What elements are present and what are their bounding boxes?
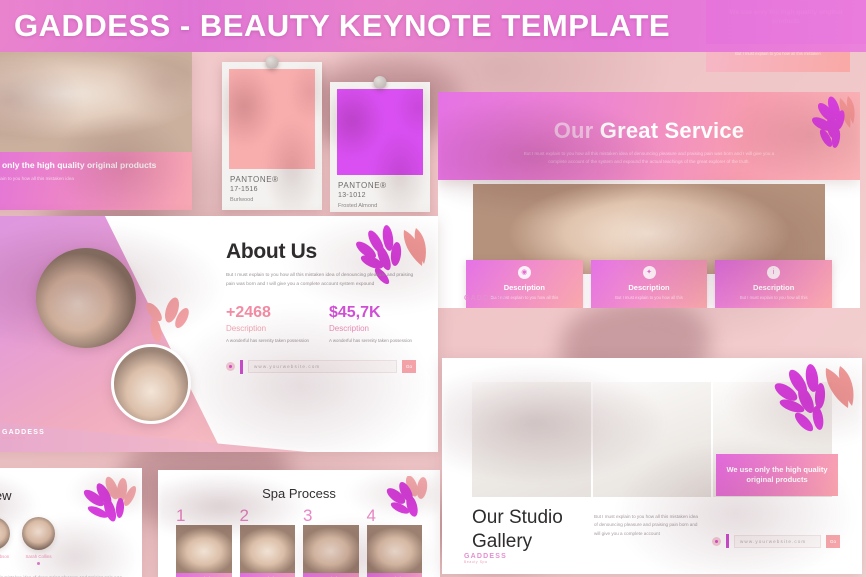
gallery-badge-text: We use only the high quality original pr…: [724, 465, 830, 486]
gallery-logo-sub: Beauty Spa: [464, 560, 507, 564]
about-url-bar[interactable]: www.yourwebsite.com Go: [226, 360, 416, 374]
pin-icon: [266, 56, 279, 69]
gallery-title-line2: Gallery: [472, 531, 532, 552]
pantone-name: Burlwood: [230, 197, 314, 203]
service-subtitle: But I must explain to you how all this m…: [438, 144, 860, 166]
about-lead: But I must explain to you how all this m…: [226, 272, 416, 290]
spa-title: Spa Process: [158, 470, 440, 501]
gallery-lead: But I must explain to you how all this m…: [594, 513, 700, 538]
pantone-name: Frosted Almond: [338, 203, 422, 209]
pantone-brand: PANTONE®: [338, 181, 422, 190]
slide-spa-process[interactable]: Spa Process 1 Description 2 Description …: [158, 470, 440, 577]
info-icon: i: [767, 266, 780, 279]
about-text-column: About Us But I must explain to you how a…: [226, 240, 416, 374]
about-logo-text: GADDESS: [2, 429, 45, 436]
slide-about-us[interactable]: About Us But I must explain to you how a…: [0, 216, 438, 452]
avatar: [22, 517, 55, 550]
spa-step-number: 1: [176, 507, 232, 524]
pantone-swatch-color: [229, 69, 315, 169]
gallery-go-button[interactable]: Go: [826, 535, 840, 548]
review-title: ...mer Review: [0, 468, 142, 503]
facial-treatment-photo: [0, 52, 192, 152]
spa-step-label: Description: [303, 573, 359, 577]
service-logo: GADDESS: [464, 295, 507, 302]
about-go-button[interactable]: Go: [402, 360, 416, 373]
spa-step-label: Description: [240, 573, 296, 577]
service-title-light: Our: [554, 118, 594, 143]
facial-caption-block: We use only the high quality original pr…: [0, 152, 192, 210]
spa-step-label: Description: [367, 573, 423, 577]
about-stat-body: A wonderful has serenity taken possessio…: [226, 337, 309, 344]
about-stat: $45,7K Description A wonderful has seren…: [329, 304, 412, 344]
service-card-title: Description: [722, 283, 825, 292]
gallery-photo: [472, 382, 591, 497]
gallery-title: Our StudioGallery: [472, 506, 563, 554]
about-stats: +2468 Description A wonderful has sereni…: [226, 304, 416, 344]
pantone-code: 13-1012: [338, 192, 422, 199]
about-stat-heading: Description: [329, 324, 412, 333]
slide-our-studio-gallery[interactable]: We use only the high quality original pr…: [442, 358, 862, 574]
dot-icon: [226, 362, 235, 371]
spa-step-photo: [240, 525, 296, 573]
service-hero-header: Our Great Service But I must explain to …: [438, 92, 860, 180]
about-logo-sub: Beauty Spa: [2, 436, 45, 440]
review-avatar-item[interactable]: Michael Dobson: [0, 517, 10, 565]
service-card-title: Description: [598, 283, 701, 292]
dot-icon: [37, 562, 40, 565]
pantone-code: 17-1516: [230, 186, 314, 193]
about-stat-body: A wonderful has serenity taken possessio…: [329, 337, 412, 344]
pantone-swatch-color: [337, 89, 423, 175]
gallery-photo: [593, 382, 712, 497]
service-card-body: But I must explain to you how all this: [722, 295, 825, 301]
review-quote: But I must explain to you how all this m…: [0, 565, 142, 577]
facial-caption-body: But I must explain to you how all this m…: [0, 176, 182, 183]
review-avatar-list: Robert Green Michael Dobson Sarah Collin…: [0, 503, 142, 565]
spa-step-number: 3: [303, 507, 359, 524]
spa-step[interactable]: 1 Description: [176, 507, 232, 577]
about-stat-number: $45,7K: [329, 304, 412, 322]
spa-step-photo: [303, 525, 359, 573]
pin-icon: [374, 76, 387, 89]
service-card[interactable]: ✦ Description But I must explain to you …: [591, 260, 708, 308]
pantone-brand: PANTONE®: [230, 175, 314, 184]
spa-step[interactable]: 3 Description: [303, 507, 359, 577]
star-icon: ✦: [643, 266, 656, 279]
gallery-logo-text: GADDESS: [464, 553, 507, 560]
gallery-title-line1: Our Studio: [472, 507, 563, 528]
about-stat-heading: Description: [226, 324, 309, 333]
about-logo: GADDESS Beauty Spa: [2, 429, 45, 440]
slide-our-great-service[interactable]: Our Great Service But I must explain to …: [438, 92, 860, 308]
avatar-name: Sarah Collins: [22, 554, 55, 559]
gallery-badge: We use only the high quality original pr…: [716, 454, 838, 496]
service-title: Our Great Service: [438, 92, 860, 144]
avatar: [0, 517, 10, 550]
spa-step-label: Description: [176, 573, 232, 577]
petal-decoration-icon: [138, 296, 198, 346]
slide-customer-review[interactable]: ...mer Review Robert Green Michael Dobso…: [0, 468, 142, 577]
slide-facial-products[interactable]: We use only the high quality original pr…: [0, 52, 192, 210]
service-card-body: But I must explain to you how all this: [598, 295, 701, 301]
service-description-cards: ◉ Description But I must explain to you …: [466, 260, 832, 308]
spa-step-number: 4: [367, 507, 423, 524]
dot-icon: [712, 537, 721, 546]
accent-bar: [726, 534, 729, 548]
pantone-card-frosted-almond[interactable]: PANTONE® 13-1012 Frosted Almond: [330, 82, 430, 212]
about-stat-number: +2468: [226, 304, 309, 322]
title-banner-text: GADDESS - BEAUTY KEYNOTE TEMPLATE: [0, 8, 670, 44]
gallery-url-bar[interactable]: www.yourwebsite.com Go: [712, 534, 840, 548]
spa-step-list: 1 Description 2 Description 3 Descriptio…: [158, 501, 440, 577]
spa-step-number: 2: [240, 507, 296, 524]
about-stat: +2468 Description A wonderful has sereni…: [226, 304, 309, 344]
avatar-name: Michael Dobson: [0, 554, 10, 559]
spa-step-photo: [176, 525, 232, 573]
pantone-card-burlwood[interactable]: PANTONE® 17-1516 Burlwood: [222, 62, 322, 210]
gallery-logo: GADDESS Beauty Spa: [464, 553, 507, 564]
about-url-text[interactable]: www.yourwebsite.com: [248, 360, 397, 373]
about-circle-photo-large: [36, 248, 136, 348]
service-card-title: Description: [473, 283, 576, 292]
facial-caption-title: We use only the high quality original pr…: [0, 160, 182, 171]
gallery-url-text[interactable]: www.yourwebsite.com: [734, 535, 821, 548]
review-avatar-item[interactable]: Sarah Collins: [22, 517, 55, 565]
camera-icon: ◉: [518, 266, 531, 279]
spa-step[interactable]: 2 Description: [240, 507, 296, 577]
service-card[interactable]: i Description But I must explain to you …: [715, 260, 832, 308]
spa-step-photo: [367, 525, 423, 573]
accent-bar: [240, 360, 243, 374]
spa-step[interactable]: 4 Description: [367, 507, 423, 577]
about-title: About Us: [226, 240, 416, 264]
about-circle-photo-small: [111, 344, 191, 424]
title-banner: GADDESS - BEAUTY KEYNOTE TEMPLATE: [0, 0, 866, 52]
service-title-bold: Great Service: [600, 118, 744, 143]
